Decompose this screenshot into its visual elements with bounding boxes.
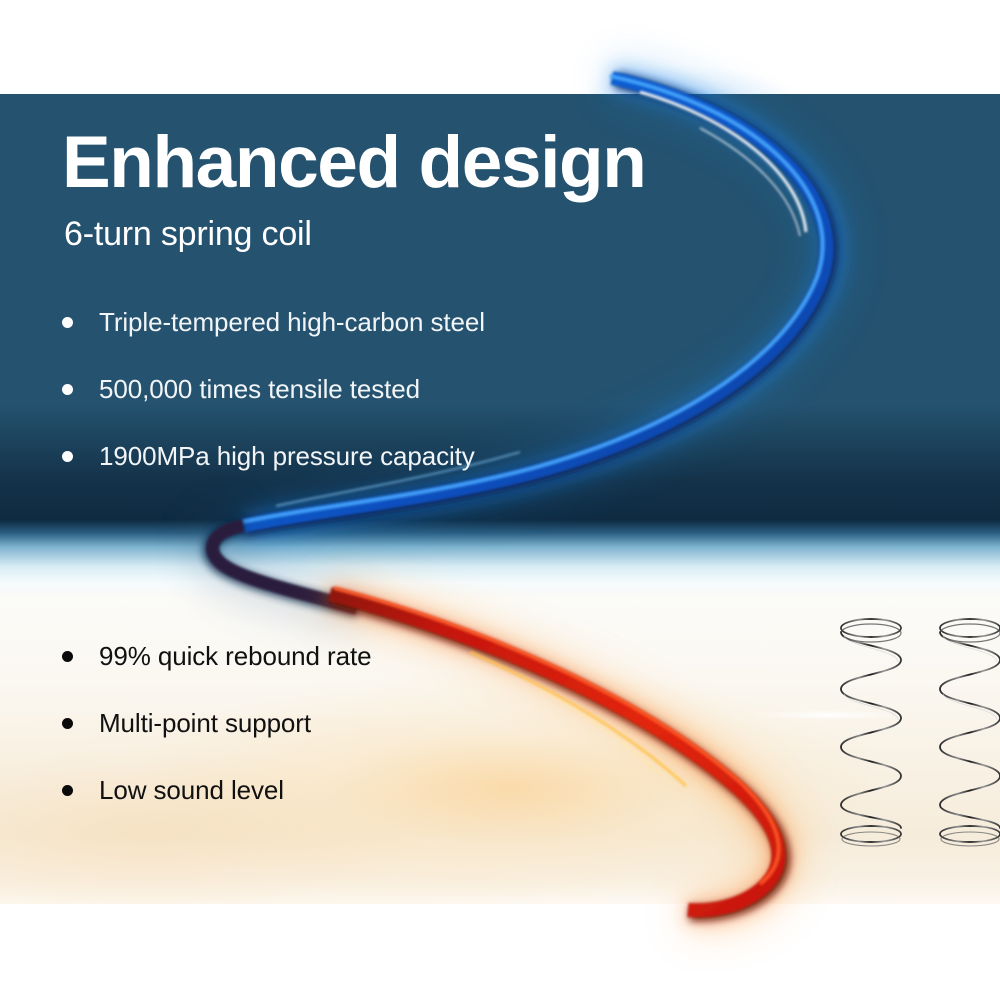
product-feature-banner: Enhanced design 6-turn spring coil Tripl… bbox=[0, 0, 1000, 1000]
upper-feature-list: Triple-tempered high-carbon steel 500,00… bbox=[62, 305, 485, 506]
bullet-dot-icon bbox=[62, 451, 73, 462]
bullet-dot-icon bbox=[62, 785, 73, 796]
list-item: Multi-point support bbox=[62, 706, 371, 740]
bullet-dot-icon bbox=[62, 718, 73, 729]
list-item-label: Triple-tempered high-carbon steel bbox=[99, 307, 485, 338]
page-subtitle: 6-turn spring coil bbox=[64, 216, 312, 253]
page-title: Enhanced design bbox=[62, 126, 645, 199]
list-item-label: Multi-point support bbox=[99, 708, 311, 739]
spring-coil-illustrations bbox=[838, 612, 1000, 852]
bullet-dot-icon bbox=[62, 317, 73, 328]
bullet-dot-icon bbox=[62, 651, 73, 662]
list-item: 99% quick rebound rate bbox=[62, 639, 371, 673]
spring-coil-illustration-right bbox=[940, 619, 1000, 846]
list-item-label: 500,000 times tensile tested bbox=[99, 374, 420, 405]
list-item: Low sound level bbox=[62, 773, 371, 807]
list-item: 1900MPa high pressure capacity bbox=[62, 439, 485, 473]
list-item-label: Low sound level bbox=[99, 775, 284, 806]
bullet-dot-icon bbox=[62, 384, 73, 395]
lower-feature-list: 99% quick rebound rate Multi-point suppo… bbox=[62, 639, 371, 840]
spring-coil-illustration-left bbox=[841, 619, 901, 846]
list-item: 500,000 times tensile tested bbox=[62, 372, 485, 406]
list-item: Triple-tempered high-carbon steel bbox=[62, 305, 485, 339]
list-item-label: 99% quick rebound rate bbox=[99, 641, 371, 672]
list-item-label: 1900MPa high pressure capacity bbox=[99, 441, 475, 472]
